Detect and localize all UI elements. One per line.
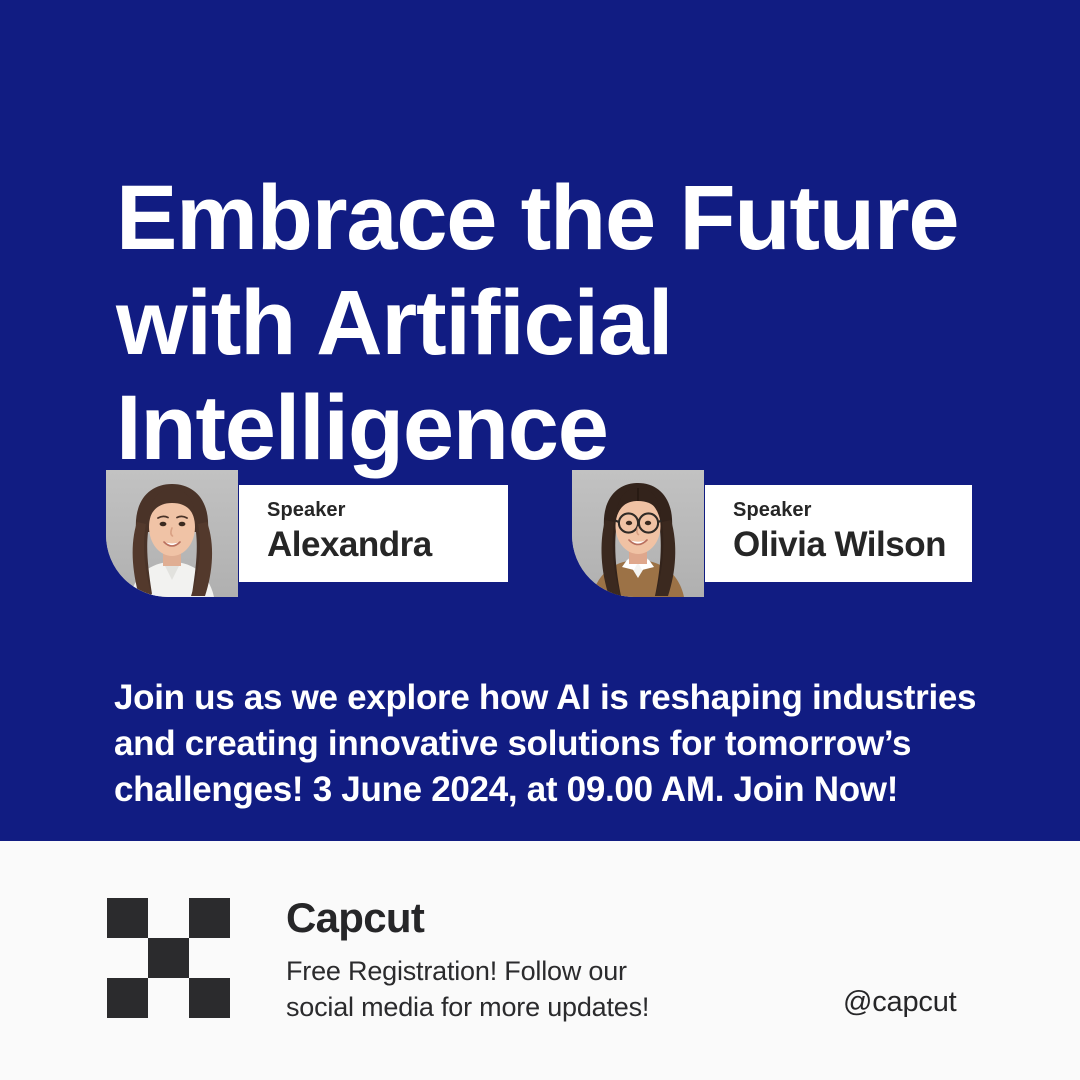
checkerboard-x-logo-icon — [107, 898, 230, 1018]
hero-panel: Embrace the Future with Artificial Intel… — [0, 0, 1080, 841]
speaker-label-olivia-wilson: Speaker Olivia Wilson — [705, 485, 972, 582]
social-handle: @capcut — [843, 985, 956, 1019]
logo-cell — [148, 938, 189, 978]
speaker-name: Olivia Wilson — [733, 523, 972, 567]
speaker-role: Speaker — [267, 498, 508, 522]
speaker-card-olivia-wilson: Speaker Olivia Wilson — [572, 470, 972, 597]
logo-cell — [189, 938, 230, 978]
speaker-label-alexandra: Speaker Alexandra — [239, 485, 508, 582]
logo-cell — [148, 978, 189, 1018]
speaker-card-alexandra: Speaker Alexandra — [106, 470, 508, 597]
speaker-name: Alexandra — [267, 523, 508, 567]
brand-name: Capcut — [286, 893, 756, 943]
event-description: Join us as we explore how AI is reshapin… — [114, 675, 994, 813]
logo-cell — [148, 898, 189, 938]
logo-cell — [189, 978, 230, 1018]
logo-cell — [107, 898, 148, 938]
speaker-list: Speaker Alexandra — [106, 470, 986, 600]
event-poster: Embrace the Future with Artificial Intel… — [0, 0, 1080, 1080]
logo-cell — [107, 938, 148, 978]
brand-block: Capcut Free Registration! Follow our soc… — [286, 893, 756, 1025]
brand-tagline: Free Registration! Follow our social med… — [286, 953, 756, 1025]
speaker-photo-alexandra — [106, 470, 238, 597]
page-title: Embrace the Future with Artificial Intel… — [116, 166, 1016, 481]
logo-cell — [189, 898, 230, 938]
speaker-photo-olivia-wilson — [572, 470, 704, 597]
speaker-role: Speaker — [733, 498, 972, 522]
logo-cell — [107, 978, 148, 1018]
